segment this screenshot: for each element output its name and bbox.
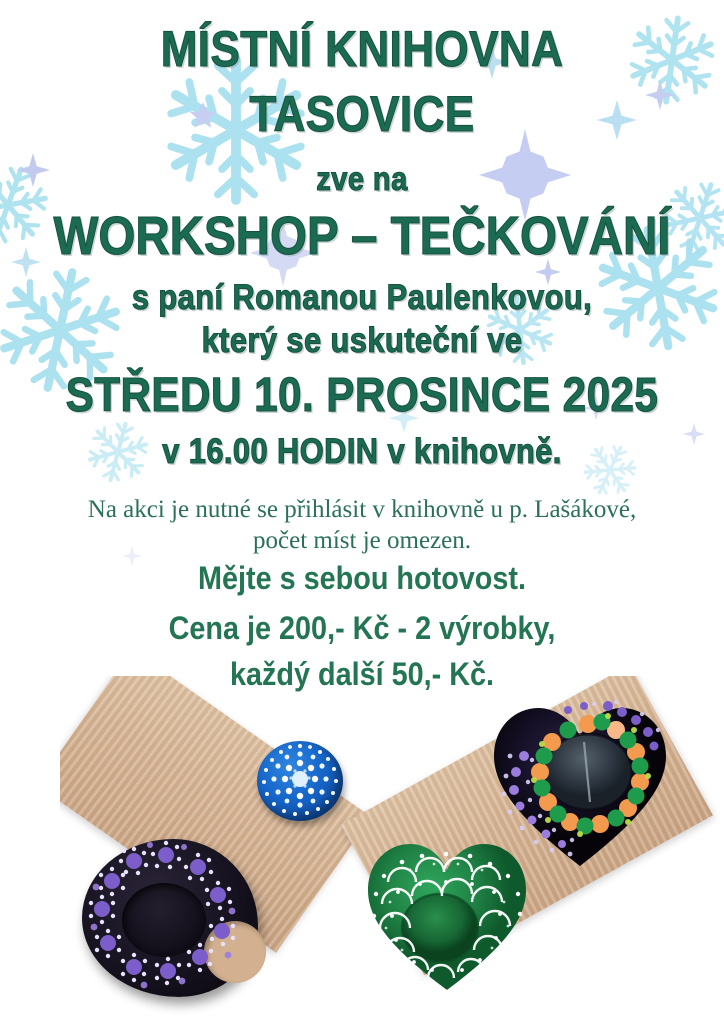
signup-note-line1: Na akci je nutné se přihlásit v knihovně…: [0, 496, 724, 524]
cash-note: Mějte s sebou hotovost.: [36, 560, 688, 597]
price-line1: Cena je 200,- Kč - 2 výrobky,: [36, 610, 688, 647]
event-date: STŘEDU 10. PROSINCE 2025: [43, 368, 680, 423]
library-title-line1: MÍSTNÍ KNIHOVNA: [43, 20, 680, 78]
poster-canvas: MÍSTNÍ KNIHOVNA TASOVICE zve na WORKSHOP…: [0, 0, 724, 1024]
lecturer-name: s paní Romanou Paulenkovou,: [43, 278, 680, 318]
moon-dot-pattern: [82, 839, 258, 997]
blue-stone-dots: [257, 741, 343, 821]
invite-text: zve na: [43, 160, 680, 198]
price-line2: každý další 50,- Kč.: [36, 656, 688, 693]
workshop-title: WORKSHOP – TEČKOVÁNÍ: [43, 205, 680, 267]
photo-strip: [0, 676, 724, 1024]
photo-right: [340, 676, 724, 1024]
black-moon-candle-holder: [82, 839, 258, 997]
poster-text: MÍSTNÍ KNIHOVNA TASOVICE zve na WORKSHOP…: [0, 0, 724, 700]
event-time: v 16.00 HODIN v knihovně.: [43, 432, 680, 472]
green-heart-dot-pattern: [362, 836, 532, 996]
library-title-line2: TASOVICE: [43, 85, 680, 143]
signup-note-line2: počet míst je omezen.: [0, 527, 724, 555]
which-line: který se uskuteční ve: [43, 321, 680, 361]
blue-dot-stone: [257, 741, 343, 821]
green-heart-candle-holder: [362, 836, 532, 996]
